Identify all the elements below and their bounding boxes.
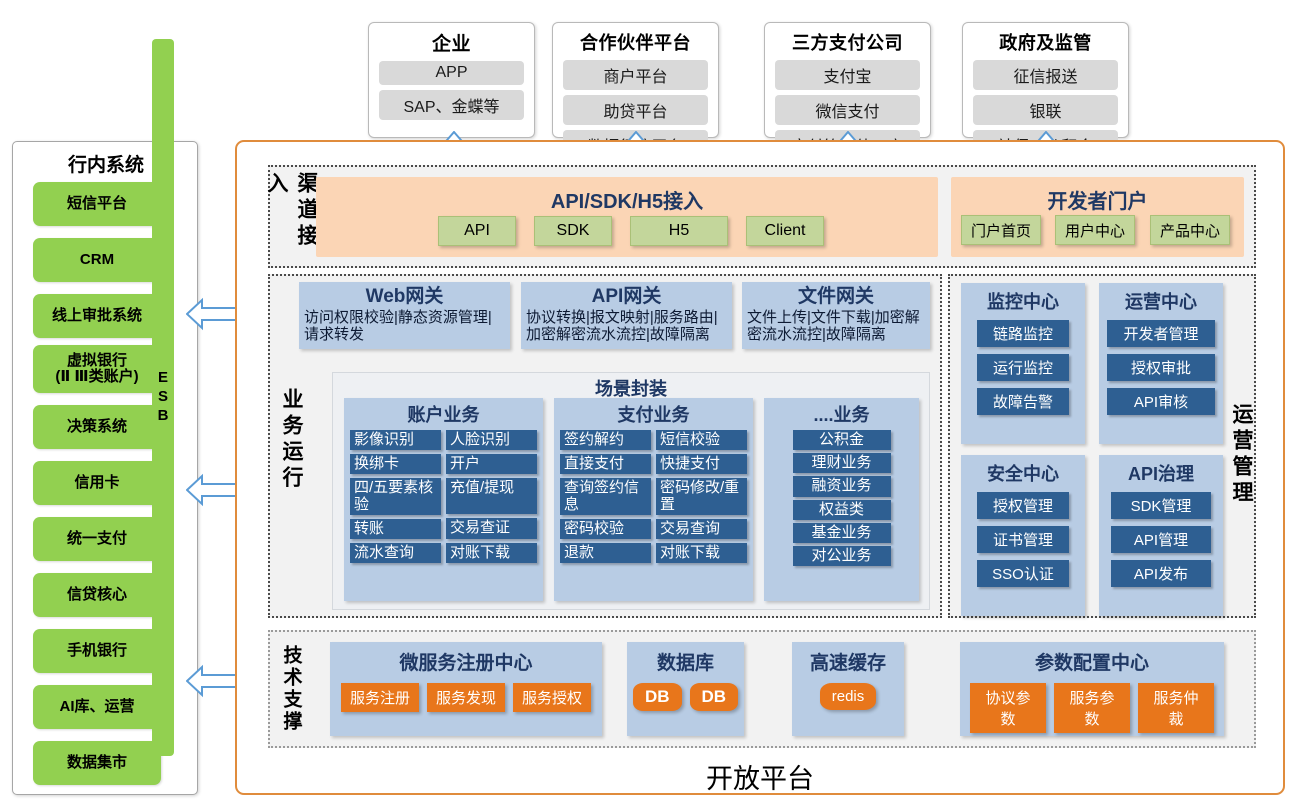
tech-card-database: 数据库 DB DB <box>627 642 744 736</box>
internal-system-label: 短信平台 <box>67 196 127 212</box>
tech-chip[interactable]: 服务发现 <box>427 683 505 712</box>
esb-label: ESB <box>155 369 172 426</box>
internal-system-item[interactable]: 线上审批系统 <box>33 294 161 338</box>
business-chip[interactable]: 交易查证 <box>446 518 537 538</box>
access-chip-label: SDK <box>557 222 590 240</box>
tech-chip[interactable]: 服务授权 <box>513 683 591 712</box>
tech-chip-row: DB DB <box>623 683 748 721</box>
external-card-title: 三方支付公司 <box>792 29 903 55</box>
business-chip[interactable]: 充值/提现 <box>446 478 537 514</box>
ops-chip[interactable]: 开发者管理 <box>1107 320 1215 347</box>
internal-system-item[interactable]: 信贷核心 <box>33 573 161 617</box>
channel-access-vertical-label: 渠道接入 <box>278 172 304 264</box>
access-chip-label: Client <box>765 222 806 240</box>
gateway-desc: 协议转换|报文映射|服务路由|加密解密流水流控|故障隔离 <box>521 308 732 344</box>
access-chip-api[interactable]: API <box>438 216 516 246</box>
business-chip[interactable]: 对公业务 <box>793 546 891 566</box>
ops-card-title: 安全中心 <box>987 455 1059 492</box>
tech-chip-row: redis <box>810 683 887 720</box>
access-chip-client[interactable]: Client <box>746 216 824 246</box>
portal-chip-product-center[interactable]: 产品中心 <box>1150 215 1230 245</box>
access-chip-h5[interactable]: H5 <box>630 216 728 246</box>
access-chip-label: H5 <box>669 222 689 240</box>
external-card-item: 银联 <box>973 95 1118 125</box>
ops-management-vertical-label: 运营管理 <box>1228 395 1254 515</box>
business-group-title: 账户业务 <box>344 398 543 430</box>
access-chip-label: API <box>464 222 490 240</box>
developer-portal-box: 开发者门户 门户首页 用户中心 产品中心 <box>951 177 1244 257</box>
portal-chip-home[interactable]: 门户首页 <box>961 215 1041 245</box>
tech-chip[interactable]: 服务参数 <box>1054 683 1130 733</box>
business-chip[interactable]: 对账下载 <box>656 543 747 563</box>
business-chip[interactable]: 密码修改/重置 <box>656 478 747 514</box>
ops-card-api-governance: API治理 SDK管理 API管理 API发布 <box>1099 455 1223 616</box>
esb-bus: ESB <box>152 39 174 756</box>
internal-system-item[interactable]: 统一支付 <box>33 517 161 561</box>
business-chip[interactable]: 基金业务 <box>793 523 891 543</box>
internal-system-label: 信贷核心 <box>67 587 127 603</box>
business-chip[interactable]: 公积金 <box>793 430 891 450</box>
external-card-enterprise: 企业 APP SAP、金蝶等 <box>368 22 535 138</box>
internal-system-label: CRM <box>80 252 114 268</box>
external-card-item: 征信报送 <box>973 60 1118 90</box>
internal-system-item[interactable]: 数据集市 <box>33 741 161 785</box>
business-group-title: ....业务 <box>764 398 919 430</box>
gateway-title: Web网关 <box>299 286 510 308</box>
external-card-item: APP <box>379 61 524 85</box>
tech-card-title: 微服务注册中心 <box>399 642 532 683</box>
tech-chip[interactable]: 服务注册 <box>341 683 419 712</box>
external-card-item: SAP、金蝶等 <box>379 90 524 120</box>
internal-system-label: 手机银行 <box>67 643 127 659</box>
api-sdk-h5-access-title: API/SDK/H5接入 <box>316 185 938 214</box>
business-column: 签约解约 直接支付 查询签约信息 密码校验 退款 <box>560 430 651 563</box>
database-chip[interactable]: DB <box>690 683 739 711</box>
tech-support-vertical-label: 技术支撑 <box>278 639 304 739</box>
ops-chip[interactable]: API管理 <box>1111 526 1211 553</box>
ops-card-operation-center: 运营中心 开发者管理 授权审批 API审核 <box>1099 283 1223 444</box>
ops-chip[interactable]: 链路监控 <box>977 320 1069 347</box>
business-chip[interactable]: 人脸识别 <box>446 430 537 450</box>
business-chip[interactable]: 快捷支付 <box>656 454 747 474</box>
business-chip[interactable]: 签约解约 <box>560 430 651 450</box>
business-group-title: 支付业务 <box>554 398 753 430</box>
internal-system-item[interactable]: 信用卡 <box>33 461 161 505</box>
internal-system-label: 决策系统 <box>67 419 127 435</box>
ops-chip[interactable]: 运行监控 <box>977 354 1069 381</box>
internal-system-item[interactable]: CRM <box>33 238 161 282</box>
platform-title: 开放平台 <box>235 757 1285 796</box>
business-runtime-vertical-label: 业务运行 <box>278 380 304 500</box>
tech-card-title: 高速缓存 <box>810 642 886 683</box>
internal-system-label: 信用卡 <box>74 475 119 491</box>
internal-system-label: 虚拟银行 (Ⅱ Ⅲ类账户) <box>55 353 138 385</box>
tech-card-microservice-registry: 微服务注册中心 服务注册 服务发现 服务授权 <box>330 642 602 736</box>
external-card-title: 合作伙伴平台 <box>580 29 691 55</box>
tech-chip-row: 协议参数 服务参数 服务仲裁 <box>960 683 1224 743</box>
business-chip[interactable]: 换绑卡 <box>350 454 441 474</box>
ops-card-title: 运营中心 <box>1125 283 1197 320</box>
portal-chip-label: 门户首页 <box>971 220 1031 241</box>
external-card-title: 企业 <box>432 29 471 56</box>
internal-system-item[interactable]: 决策系统 <box>33 405 161 449</box>
tech-chip[interactable]: 协议参数 <box>970 683 1046 733</box>
tech-chip[interactable]: 服务仲裁 <box>1138 683 1214 733</box>
business-chip[interactable]: 交易查询 <box>656 519 747 539</box>
business-chip[interactable]: 转账 <box>350 519 441 539</box>
tech-card-title: 参数配置中心 <box>1035 642 1149 683</box>
internal-system-item[interactable]: AI库、运营 <box>33 685 161 729</box>
business-column: 人脸识别 开户 充值/提现 交易查证 对账下载 <box>446 430 537 563</box>
business-column: 短信校验 快捷支付 密码修改/重置 交易查询 对账下载 <box>656 430 747 563</box>
ops-card-security-center: 安全中心 授权管理 证书管理 SSO认证 <box>961 455 1085 616</box>
business-column: 影像识别 换绑卡 四/五要素核验 转账 流水查询 <box>350 430 441 563</box>
ops-chip[interactable]: SSO认证 <box>977 560 1069 587</box>
tech-card-cache: 高速缓存 redis <box>792 642 904 736</box>
ops-chip[interactable]: 故障告警 <box>977 388 1069 415</box>
external-card-title: 政府及监管 <box>999 29 1092 55</box>
portal-chip-label: 用户中心 <box>1065 220 1125 241</box>
internal-system-label: 统一支付 <box>67 531 127 547</box>
gateway-card-web: Web网关 访问权限校验|静态资源管理|请求转发 <box>299 282 510 349</box>
internal-system-label: 数据集市 <box>67 755 127 771</box>
access-chip-sdk[interactable]: SDK <box>534 216 612 246</box>
gateway-desc: 文件上传|文件下载|加密解密流水流控|故障隔离 <box>742 308 930 344</box>
internal-system-item[interactable]: 手机银行 <box>33 629 161 673</box>
internal-system-item[interactable]: 虚拟银行 (Ⅱ Ⅲ类账户) <box>33 345 161 393</box>
business-chip[interactable]: 理财业务 <box>793 453 891 473</box>
tech-card-parameter-config-center: 参数配置中心 协议参数 服务参数 服务仲裁 <box>960 642 1224 736</box>
business-chip[interactable]: 查询签约信息 <box>560 478 651 514</box>
gateway-title: API网关 <box>521 286 732 308</box>
business-chip[interactable]: 流水查询 <box>350 543 441 563</box>
business-chip[interactable]: 短信校验 <box>656 430 747 450</box>
internal-system-item[interactable]: 短信平台 <box>33 182 161 226</box>
ops-chip[interactable]: API发布 <box>1111 560 1211 587</box>
external-card-item: 商户平台 <box>563 60 708 90</box>
ops-chip[interactable]: 证书管理 <box>977 526 1069 553</box>
external-card-third-party-payment: 三方支付公司 支付宝 微信支付 宝付等其他三方 <box>764 22 931 138</box>
business-chip[interactable]: 退款 <box>560 543 651 563</box>
tech-card-title: 数据库 <box>657 642 714 683</box>
scene-encapsulation-box: 场景封装 账户业务 影像识别 换绑卡 四/五要素核验 转账 流水查询 人脸识别 … <box>332 372 930 610</box>
tech-chip-row: 服务注册 服务发现 服务授权 <box>331 683 601 722</box>
api-sdk-h5-access-box: API/SDK/H5接入 API SDK H5 Client <box>316 177 938 257</box>
external-card-item: 微信支付 <box>775 95 920 125</box>
portal-chip-user-center[interactable]: 用户中心 <box>1055 215 1135 245</box>
business-chip[interactable]: 融资业务 <box>793 476 891 496</box>
portal-chip-label: 产品中心 <box>1160 220 1220 241</box>
external-card-government-regulator: 政府及监管 征信报送 银联 社保、公积金 <box>962 22 1129 138</box>
external-card-item: 助贷平台 <box>563 95 708 125</box>
external-card-item: 支付宝 <box>775 60 920 90</box>
business-chip[interactable]: 权益类 <box>793 500 891 520</box>
business-chip[interactable]: 四/五要素核验 <box>350 478 441 514</box>
database-chip[interactable]: DB <box>633 683 682 711</box>
architecture-diagram: 企业 APP SAP、金蝶等 合作伙伴平台 商户平台 助贷平台 数据征信平台 三… <box>0 0 1299 799</box>
business-chip[interactable]: 开户 <box>446 454 537 474</box>
business-column: 公积金 理财业务 融资业务 权益类 基金业务 对公业务 <box>793 430 891 566</box>
business-group-other: ....业务 公积金 理财业务 融资业务 权益类 基金业务 对公业务 <box>764 398 919 601</box>
business-group-payment: 支付业务 签约解约 直接支付 查询签约信息 密码校验 退款 短信校验 快捷支付 … <box>554 398 753 601</box>
business-chip[interactable]: 对账下载 <box>446 543 537 563</box>
ops-chip[interactable]: 授权审批 <box>1107 354 1215 381</box>
gateway-title: 文件网关 <box>742 286 930 308</box>
ops-chip[interactable]: SDK管理 <box>1111 492 1211 519</box>
internal-system-label: 线上审批系统 <box>52 308 142 324</box>
internal-system-label: AI库、运营 <box>59 699 134 715</box>
business-group-account: 账户业务 影像识别 换绑卡 四/五要素核验 转账 流水查询 人脸识别 开户 充值… <box>344 398 543 601</box>
gateway-card-api: API网关 协议转换|报文映射|服务路由|加密解密流水流控|故障隔离 <box>521 282 732 349</box>
ops-card-title: 监控中心 <box>987 283 1059 320</box>
gateway-desc: 访问权限校验|静态资源管理|请求转发 <box>299 308 510 344</box>
business-chip[interactable]: 影像识别 <box>350 430 441 450</box>
external-card-partner-platform: 合作伙伴平台 商户平台 助贷平台 数据征信平台 <box>552 22 719 138</box>
business-chip[interactable]: 密码校验 <box>560 519 651 539</box>
gateway-card-file: 文件网关 文件上传|文件下载|加密解密流水流控|故障隔离 <box>742 282 930 349</box>
ops-chip[interactable]: API审核 <box>1107 388 1215 415</box>
ops-card-title: API治理 <box>1128 455 1194 492</box>
ops-card-monitoring-center: 监控中心 链路监控 运行监控 故障告警 <box>961 283 1085 444</box>
ops-chip[interactable]: 授权管理 <box>977 492 1069 519</box>
developer-portal-title: 开发者门户 <box>951 185 1244 214</box>
redis-chip[interactable]: redis <box>820 683 877 710</box>
business-chip[interactable]: 直接支付 <box>560 454 651 474</box>
